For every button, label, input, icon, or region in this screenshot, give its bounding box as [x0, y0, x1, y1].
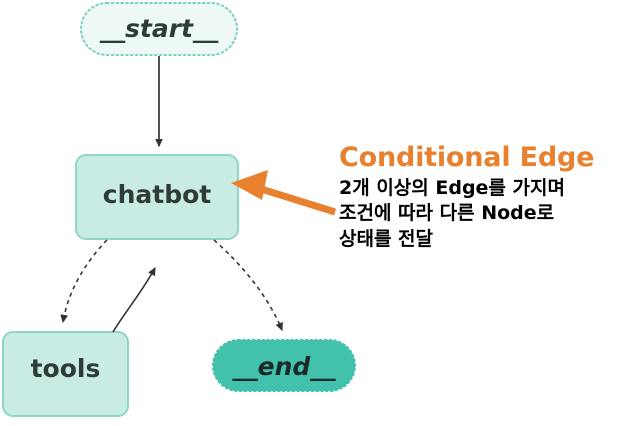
node-start-shape [81, 3, 237, 55]
diagram-canvas: __start__ chatbot tools __end__ Conditio… [0, 0, 622, 426]
node-start[interactable] [81, 3, 237, 55]
annotation-body: 2개 이상의 Edge를 가지며 조건에 따라 다른 Node로 상태를 전달 [339, 176, 614, 252]
conditional-edge-annotation: Conditional Edge 2개 이상의 Edge를 가지며 조건에 따라… [339, 143, 614, 252]
node-tools-shape [3, 332, 128, 416]
node-end-shape [213, 340, 355, 391]
node-chatbot-shape [76, 155, 238, 239]
annotation-line-2: 조건에 따라 다른 Node로 [339, 201, 614, 226]
node-tools[interactable] [3, 332, 128, 416]
annotation-title: Conditional Edge [339, 143, 614, 172]
edge-tools-to-chatbot [113, 268, 155, 332]
node-chatbot[interactable] [76, 155, 238, 239]
edge-chatbot-to-end [214, 240, 282, 330]
node-end[interactable] [213, 340, 355, 391]
annotation-line-1: 2개 이상의 Edge를 가지며 [339, 176, 614, 201]
edge-chatbot-to-tools [63, 240, 107, 322]
pointer-shaft [258, 188, 335, 212]
annotation-line-3: 상태를 전달 [339, 227, 614, 252]
conditional-edge-pointer-arrow [231, 170, 335, 212]
